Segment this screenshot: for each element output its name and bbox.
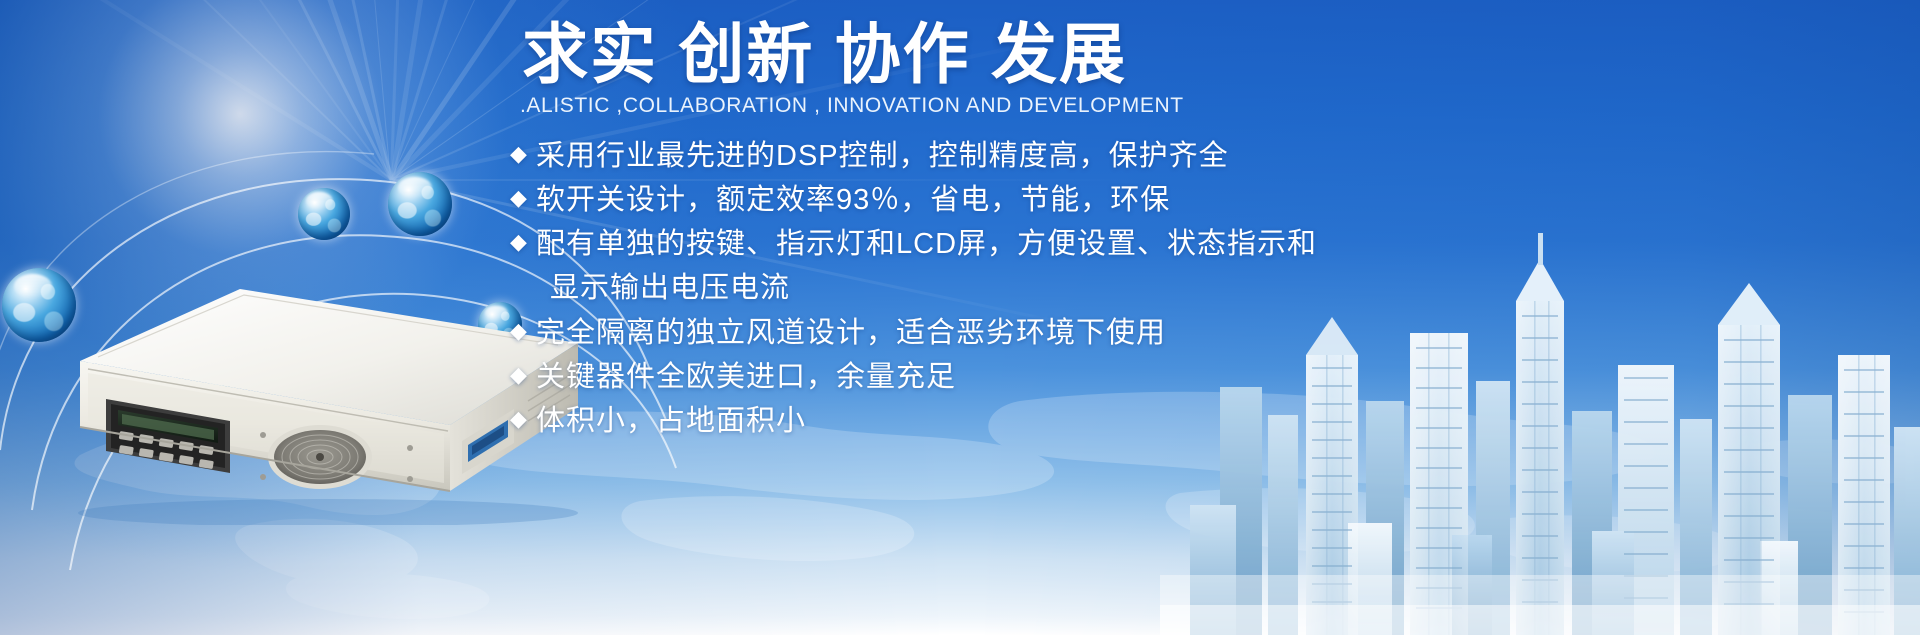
feature-list-item-label: 软开关设计，额定效率93％，省电，节能，环保 bbox=[536, 180, 1830, 221]
diamond-bullet-icon: ◆ bbox=[510, 224, 536, 260]
feature-list-item: ◆采用行业最先进的DSP控制，控制精度高，保护齐全 bbox=[510, 136, 1830, 177]
feature-list-item: ◆显示输出电压电流 bbox=[510, 268, 1830, 309]
diamond-bullet-icon: ◆ bbox=[510, 180, 536, 216]
diamond-bullet-icon: ◆ bbox=[510, 313, 536, 349]
feature-list-item-label: 配有单独的按键、指示灯和LCD屏，方便设置、状态指示和 bbox=[536, 224, 1830, 265]
feature-list-item: ◆完全隔离的独立风道设计，适合恶劣环境下使用 bbox=[510, 313, 1830, 354]
promo-banner: 求实 创新 协作 发展 .ALISTIC ,COLLABORATION , IN… bbox=[0, 0, 1920, 635]
banner-headline: 求实 创新 协作 发展 bbox=[522, 18, 1830, 92]
feature-list-item-label: 体积小，占地面积小 bbox=[536, 401, 1830, 442]
diamond-bullet-icon: ◆ bbox=[510, 401, 536, 437]
diamond-bullet-icon: ◆ bbox=[510, 357, 536, 393]
feature-list-item-label: 采用行业最先进的DSP控制，控制精度高，保护齐全 bbox=[536, 136, 1830, 177]
diamond-bullet-icon: ◆ bbox=[510, 136, 536, 172]
feature-list-item: ◆关键器件全欧美进口，余量充足 bbox=[510, 357, 1830, 398]
feature-list-item-label: 显示输出电压电流 bbox=[536, 268, 1830, 309]
feature-list-item: ◆软开关设计，额定效率93％，省电，节能，环保 bbox=[510, 180, 1830, 221]
feature-list: ◆采用行业最先进的DSP控制，控制精度高，保护齐全◆软开关设计，额定效率93％，… bbox=[510, 136, 1830, 442]
banner-text-content: 求实 创新 协作 发展 .ALISTIC ,COLLABORATION , IN… bbox=[510, 18, 1830, 445]
feature-list-item-label: 关键器件全欧美进口，余量充足 bbox=[536, 357, 1830, 398]
feature-list-item: ◆配有单独的按键、指示灯和LCD屏，方便设置、状态指示和 bbox=[510, 224, 1830, 265]
feature-list-item: ◆体积小，占地面积小 bbox=[510, 401, 1830, 442]
banner-subheadline: .ALISTIC ,COLLABORATION , INNOVATION AND… bbox=[520, 94, 1830, 118]
feature-list-item-label: 完全隔离的独立风道设计，适合恶劣环境下使用 bbox=[536, 313, 1830, 354]
